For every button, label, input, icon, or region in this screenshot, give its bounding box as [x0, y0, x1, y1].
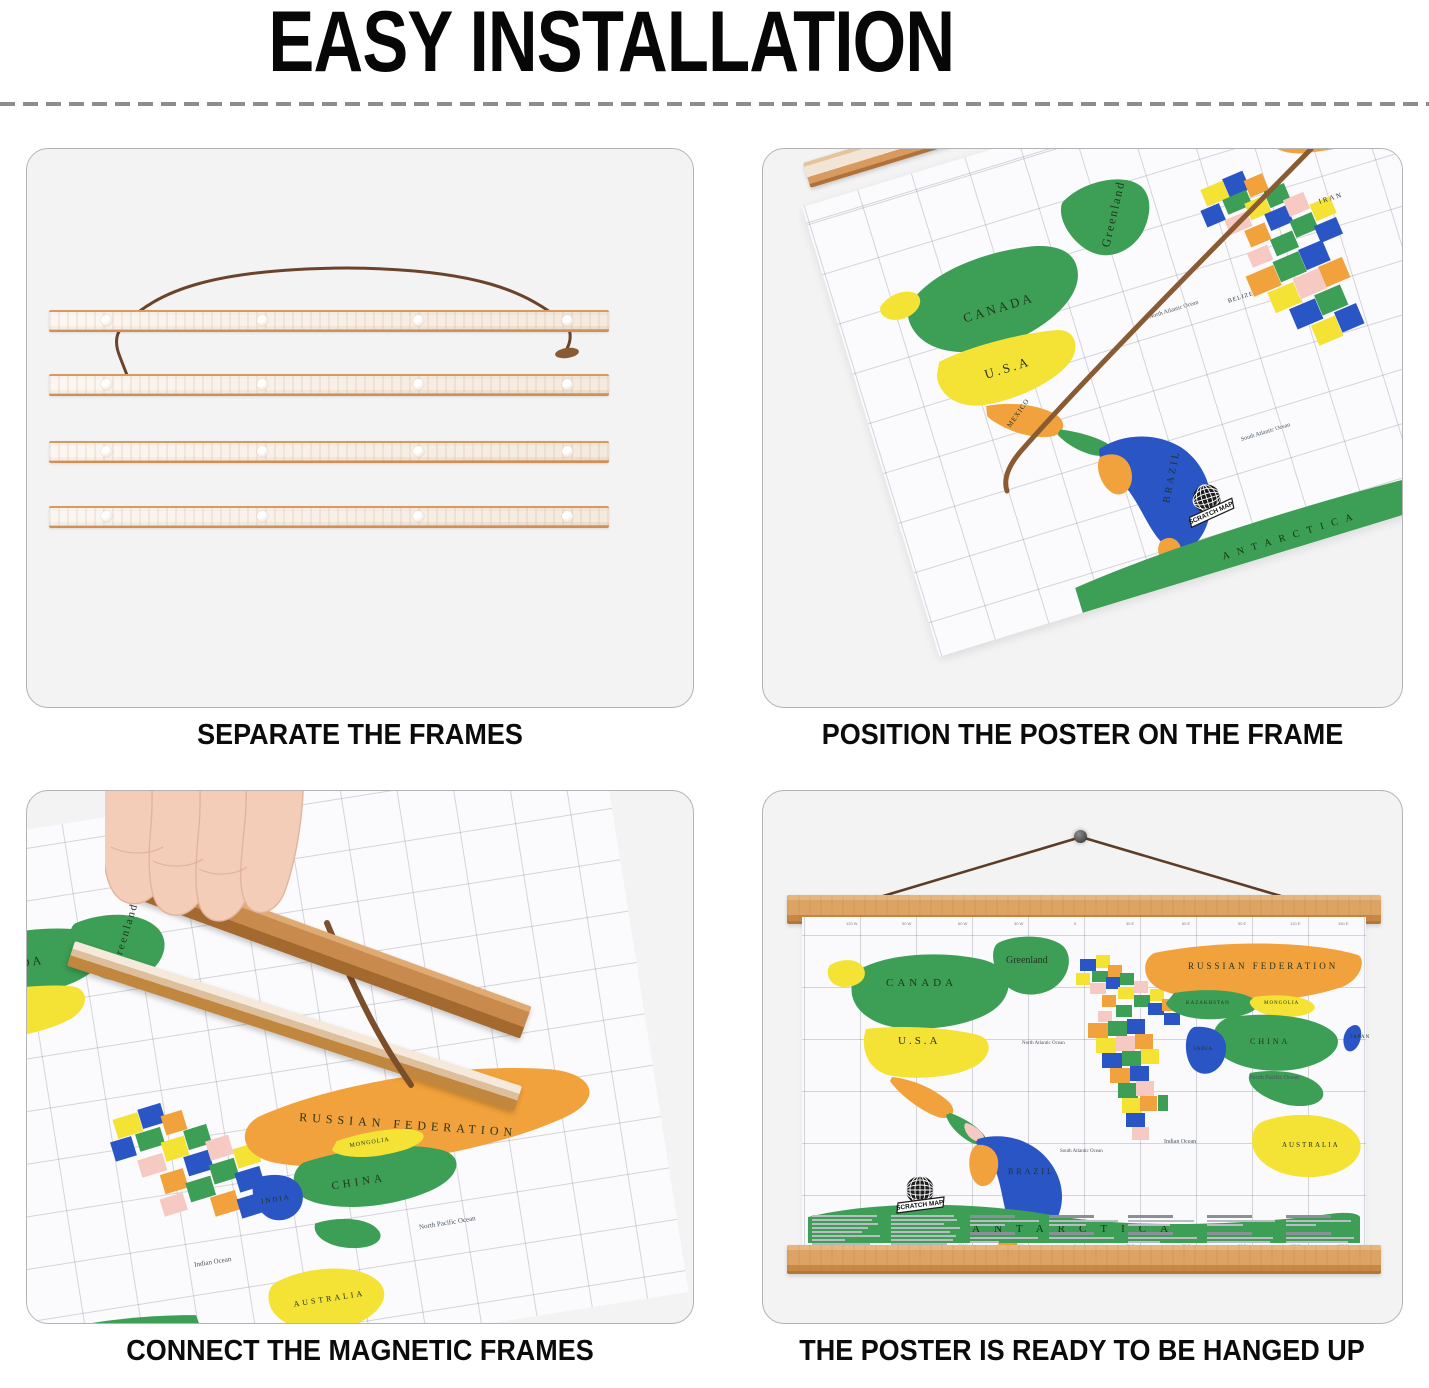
leather-cord-icon — [763, 149, 1403, 708]
frame-strip[interactable] — [49, 441, 609, 463]
map-label-greenland: Greenland — [1006, 955, 1048, 966]
scratch-map-logo-icon: SCRATCH MAP — [894, 1171, 948, 1219]
map-label-north-atlantic-ocean: North Atlantic Ocean — [1022, 1041, 1065, 1046]
map-label-south-atlantic-ocean: South Atlantic Ocean — [1060, 1149, 1103, 1154]
map-label-japan: JAPAN — [1350, 1035, 1370, 1040]
magnet-dot — [562, 511, 573, 522]
magnet-dot — [413, 315, 424, 326]
step-1-caption: SEPARATE THE FRAMES — [49, 718, 670, 752]
magnet-dot — [562, 446, 573, 457]
map-label-india: INDIA — [1194, 1047, 1213, 1052]
hand-icon — [105, 790, 335, 1011]
legend-column — [970, 1215, 1042, 1249]
map-label-kazakhstan: KAZAKHSTAN — [1186, 1001, 1230, 1006]
poster-on-frame-scene: CANADA U.S.A Greenland RUSSIAN FEDERATIO… — [763, 149, 1403, 708]
frame-strip-with-cord[interactable] — [49, 310, 609, 332]
magnet-dot — [257, 446, 268, 457]
connect-the-magnetic-frames-panel: CANADA U.S.A Greenland RUSSIAN FEDERATIO… — [26, 790, 694, 1324]
magnet-dot — [257, 315, 268, 326]
frame-strip[interactable] — [49, 374, 609, 396]
magnetic-frames-scene: CANADA U.S.A Greenland RUSSIAN FEDERATIO… — [27, 791, 694, 1324]
frame-strip[interactable] — [49, 506, 609, 528]
poster-ready-panel: 120 W90 W 60 W30 W 030 E 60 E90 E 120 E1… — [762, 790, 1403, 1324]
map-label-usa: U.S.A — [898, 1035, 941, 1047]
map-label-mongolia: MONGOLIA — [1264, 1001, 1299, 1006]
magnet-dot — [413, 446, 424, 457]
magnet-dot — [101, 379, 112, 390]
separate-the-frames-panel — [26, 148, 694, 708]
magnet-dot — [562, 315, 573, 326]
map-label-indian-ocean: Indian Ocean — [1164, 1139, 1196, 1145]
magnet-dot — [413, 379, 424, 390]
step-3-caption: CONNECT THE MAGNETIC FRAMES — [49, 1334, 670, 1368]
hung-poster-scene: 120 W90 W 60 W30 W 030 E 60 E90 E 120 E1… — [763, 791, 1403, 1324]
magnet-dot — [257, 511, 268, 522]
magnet-dot — [101, 511, 112, 522]
map-label-canada: CANADA — [886, 977, 957, 989]
legend-column — [891, 1215, 963, 1249]
leather-cord-icon — [27, 149, 694, 708]
magnet-dot — [257, 379, 268, 390]
legend-column — [812, 1215, 884, 1249]
map-label-brazil: BRAZIL — [1008, 1167, 1055, 1176]
header-divider — [0, 102, 1429, 106]
magnet-dot — [562, 379, 573, 390]
step-4-caption: THE POSTER IS READY TO BE HANGED UP — [771, 1334, 1392, 1368]
map-legend — [812, 1215, 1358, 1249]
map-label-china: CHINA — [1250, 1037, 1290, 1046]
map-label-australia: AUSTRALIA — [1282, 1141, 1340, 1149]
map-label-russian-federation: RUSSIAN FEDERATION — [1188, 961, 1338, 971]
legend-column — [1207, 1215, 1279, 1249]
step-2-caption: POSITION THE POSTER ON THE FRAME — [784, 718, 1380, 752]
legend-column — [1128, 1215, 1200, 1249]
legend-column — [1286, 1215, 1358, 1249]
page-title: EASY INSTALLATION — [143, 0, 1286, 90]
legend-column — [1049, 1215, 1121, 1249]
header: EASY INSTALLATION — [0, 0, 1429, 96]
position-the-poster-panel: CANADA U.S.A Greenland RUSSIAN FEDERATIO… — [762, 148, 1403, 708]
magnet-dot — [101, 446, 112, 457]
magnet-dot — [101, 315, 112, 326]
map-label-north-pacific-ocean: North Pacific Ocean — [1250, 1075, 1299, 1081]
scratch-map-poster[interactable]: 120 W90 W 60 W30 W 030 E 60 E90 E 120 E1… — [802, 917, 1366, 1253]
bottom-frame-bar[interactable] — [787, 1245, 1381, 1274]
wall-nail-icon — [1074, 830, 1087, 843]
magnet-dot — [413, 511, 424, 522]
